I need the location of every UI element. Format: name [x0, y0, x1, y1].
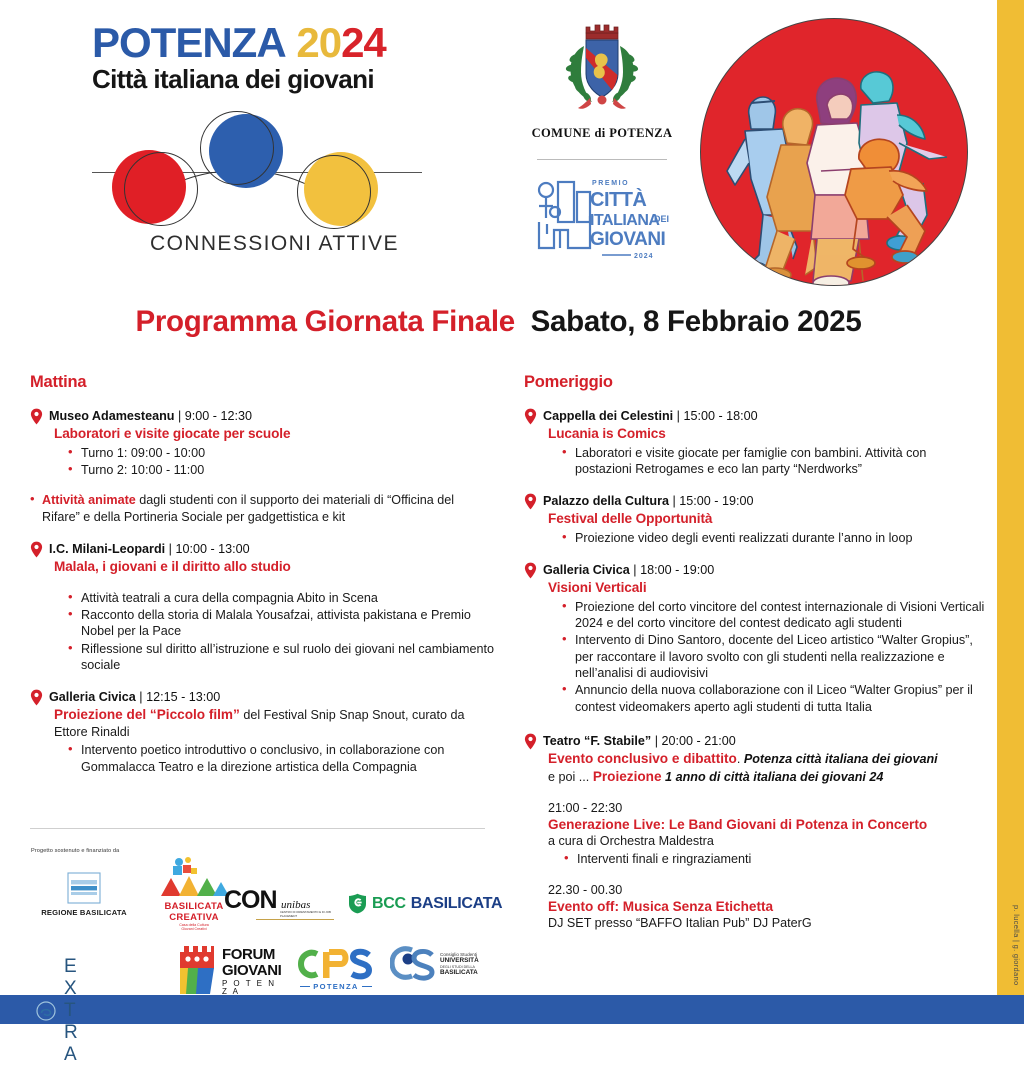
list-item: Interventi finali e ringraziamenti	[564, 851, 986, 867]
bcc-shield-icon	[348, 893, 367, 914]
subblock-subtitle: a cura di Orchestra Maldestra	[524, 833, 986, 849]
cps-potenza-logo: POTENZA	[288, 948, 384, 991]
location-pin-icon	[30, 408, 43, 425]
list-item: Intervento di Dino Santoro, docente del …	[562, 632, 986, 681]
closing-plain: e poi ...	[548, 770, 593, 784]
entry-subtitle: Visioni Verticali	[524, 579, 986, 596]
bcc-basilicata-label: BASILICATA	[411, 895, 503, 913]
list-item: Laboratori e visite giocate per famiglie…	[562, 445, 986, 478]
page-title: Programma Giornata Finale Sabato, 8 Febb…	[0, 305, 997, 339]
premio-line-italiana: ITALIANA	[590, 212, 660, 229]
entry-closing-line-1: Evento conclusivo e dibattito. Potenza c…	[524, 750, 986, 768]
forum-label-3: GIOVANI	[222, 963, 281, 978]
entry-header: Galleria Civica | 12:15 - 13:00	[30, 689, 495, 705]
schedule-column-morning: Mattina Museo Adamesteanu | 9:00 - 12:30…	[30, 372, 495, 788]
footer-note: Progetto sostenuto e finanziato da	[31, 848, 119, 854]
page-title-date: Sabato, 8 Febbraio 2025	[531, 305, 862, 338]
mark-ring-red	[124, 152, 198, 226]
entry-bullet-list: Proiezione del corto vincitore del conte…	[524, 599, 986, 716]
list-item: Riflessione sul diritto all’istruzione e…	[68, 641, 495, 674]
premio-line-giovani: GIOVANI	[590, 229, 666, 250]
schedule-entry: I.C. Milani-Leopardi | 10:00 - 13:00 Mal…	[30, 541, 495, 673]
bottom-edge-bar	[0, 995, 1024, 1024]
closing-italic-2: 1 anno di città italiana dei giovani 24	[662, 770, 884, 784]
group-of-young-people-illustration	[700, 18, 968, 286]
logo-year-part1: 20	[296, 19, 341, 66]
schedule-entry: Galleria Civica | 18:00 - 19:00 Visioni …	[524, 562, 986, 715]
footer-divider	[30, 828, 485, 829]
entry-header: I.C. Milani-Leopardi | 10:00 - 13:00	[30, 541, 495, 557]
forum-giovani-potenza-logo: FORUM GIOVANI P O T E N Z A	[176, 944, 281, 996]
entry-subtitle: Lucania is Comics	[524, 425, 986, 442]
entry-bullet-list: Turno 1: 09:00 - 10:00 Turno 2: 10:00 - …	[30, 445, 495, 479]
list-item: Proiezione video degli eventi realizzati…	[562, 530, 986, 546]
location-pin-icon	[524, 562, 537, 579]
closing-italic: Potenza città italiana dei giovani	[744, 752, 938, 766]
column-heading-afternoon: Pomeriggio	[524, 372, 986, 393]
premio-line-dei: DEI	[654, 214, 669, 224]
potenza-2024-logo: POTENZA 2024 Città italiana dei giovani …	[92, 22, 442, 240]
location-pin-icon	[524, 493, 537, 510]
venue-name: Cappella dei Celestini	[543, 409, 673, 423]
bcc-label: BCC	[372, 895, 406, 913]
con-unibas-label-1: CON	[224, 886, 277, 914]
subblock-title: Evento off: Musica Senza Etichetta	[524, 898, 986, 915]
potenza-coat-of-arms-icon	[556, 22, 648, 120]
column-heading-morning: Mattina	[30, 372, 495, 393]
subblock-time: 21:00 - 22:30	[524, 800, 986, 816]
entry-header: Galleria Civica | 18:00 - 19:00	[524, 562, 986, 578]
venue-time: 15:00 - 19:00	[679, 494, 753, 508]
venue-name: Museo Adamesteanu	[49, 409, 175, 423]
closing-highlight: Evento conclusivo e dibattito	[548, 751, 737, 766]
venue-name: Galleria Civica	[49, 690, 136, 704]
con-unibas-logo: CON unibas CENTRO DI ORIENTAMENTO E DI J…	[224, 888, 334, 920]
venue-time: 12:15 - 13:00	[146, 690, 220, 704]
regione-basilicata-logo: REGIONE BASILICATA	[30, 872, 138, 917]
comune-divider	[537, 159, 667, 160]
closing-highlight-2: Proiezione	[593, 769, 662, 784]
cps-potenza-label: POTENZA	[313, 982, 358, 991]
list-item: Intervento poetico introduttivo o conclu…	[68, 742, 495, 775]
venue-time: 18:00 - 19:00	[640, 563, 714, 577]
mark-caption: CONNESSIONI ATTIVE	[150, 232, 399, 256]
entry-header: Cappella dei Celestini | 15:00 - 18:00	[524, 408, 986, 424]
entry-closing-line-2: e poi ... Proiezione 1 anno di città ita…	[524, 768, 986, 786]
mark-ring-blue	[200, 111, 274, 185]
schedule-entry: Teatro “F. Stabile” | 20:00 - 21:00 Even…	[524, 733, 986, 931]
schedule-entry: Galleria Civica | 12:15 - 13:00 Proiezio…	[30, 689, 495, 775]
comune-di-potenza-logo: COMUNE di POTENZA	[526, 22, 678, 160]
right-edge-bar	[997, 0, 1024, 995]
schedule-entry: Museo Adamesteanu | 9:00 - 12:30 Laborat…	[30, 408, 495, 525]
entry-header: Palazzo della Cultura | 15:00 - 19:00	[524, 493, 986, 509]
closing-sep: .	[737, 752, 744, 766]
entry-header: Museo Adamesteanu | 9:00 - 12:30	[30, 408, 495, 424]
entry-header: Teatro “F. Stabile” | 20:00 - 21:00	[524, 733, 986, 749]
cs-label-universita: UNIVERSITÀ	[440, 957, 479, 965]
entry-subtitle: Proiezione del “Piccolo film” del Festiv…	[30, 706, 495, 740]
extra-label: E X T R A	[64, 956, 83, 1066]
subblock-bullet-list: Interventi finali e ringraziamenti	[524, 851, 986, 867]
forum-castle-icon	[176, 944, 218, 996]
list-item: Turno 1: 09:00 - 10:00	[68, 445, 495, 461]
schedule-column-afternoon: Pomeriggio Cappella dei Celestini | 15:0…	[524, 372, 986, 944]
poster-header: POTENZA 2024 Città italiana dei giovani …	[0, 0, 997, 300]
venue-time: 10:00 - 13:00	[175, 542, 249, 556]
entry-subtitle: Malala, i giovani e il diritto allo stud…	[30, 558, 495, 575]
cps-rule-right	[362, 986, 372, 987]
venue-time: 15:00 - 18:00	[683, 409, 757, 423]
list-item: Attività teatrali a cura della compagnia…	[68, 590, 495, 606]
entry-subtitle: Laboratori e visite giocate per scuole	[30, 425, 495, 442]
logo-subtitle: Città italiana dei giovani	[92, 65, 442, 94]
entry-subtitle-highlight: Proiezione del “Piccolo film”	[54, 707, 240, 722]
schedule-entry: Cappella dei Celestini | 15:00 - 18:00 L…	[524, 408, 986, 477]
venue-time: 20:00 - 21:00	[662, 734, 736, 748]
entry-note: Attività animate dagli studenti con il s…	[30, 492, 495, 525]
extra-swirl-icon	[36, 1001, 56, 1021]
regione-basilicata-label: REGIONE BASILICATA	[30, 908, 138, 917]
logo-title-line: POTENZA 2024	[92, 22, 442, 64]
location-pin-icon	[524, 408, 537, 425]
entry-bullet-list: Laboratori e visite giocate per famiglie…	[524, 445, 986, 478]
venue-name: Teatro “F. Stabile”	[543, 734, 651, 748]
consiglio-studenti-unibas-logo: Consiglio Studenti UNIVERSITÀ DEGLI STUD…	[390, 946, 479, 982]
cs-monogram-icon	[390, 946, 436, 982]
list-item: Racconto della storia di Malala Yousafza…	[68, 607, 495, 640]
list-item: Turno 2: 10:00 - 11:00	[68, 462, 495, 478]
logo-year-part2: 24	[341, 19, 386, 66]
premio-line-year: 2024	[634, 253, 654, 260]
subblock-time: 22.30 - 00.30	[524, 882, 986, 898]
schedule-entry: Palazzo della Cultura | 15:00 - 19:00 Fe…	[524, 493, 986, 546]
entry-bullet-list: Proiezione video degli eventi realizzati…	[524, 530, 986, 546]
cs-label-basilicata: BASILICATA	[440, 969, 479, 977]
entry-note-highlight: Attività animate	[42, 493, 136, 507]
comune-label: COMUNE di POTENZA	[526, 126, 678, 141]
subblock-subtitle: DJ SET presso “BAFFO Italian Pub” DJ Pat…	[524, 915, 986, 931]
list-item: Annuncio della nuova collaborazione con …	[562, 682, 986, 715]
venue-name: Galleria Civica	[543, 563, 630, 577]
entry-subtitle: Festival delle Opportunità	[524, 510, 986, 527]
bcc-basilicata-logo: BCC BASILICATA	[348, 893, 498, 914]
entry-bullet-list: Intervento poetico introduttivo o conclu…	[30, 742, 495, 775]
poster-page: p. lucella | g. giordano POTENZA 2024 Ci…	[0, 0, 1024, 1024]
page-title-red: Programma Giornata Finale	[135, 305, 514, 338]
premio-citta-italiana-giovani-logo: PREMIO CITTÀ ITALIANA DEI GIOVANI 2024	[530, 172, 680, 264]
forum-label-1: FORUM	[222, 947, 281, 962]
location-pin-icon	[30, 689, 43, 706]
list-item: Proiezione del corto vincitore del conte…	[562, 599, 986, 632]
mark-ring-yellow	[297, 155, 371, 229]
venue-name: Palazzo della Cultura	[543, 494, 669, 508]
venue-name: I.C. Milani-Leopardi	[49, 542, 165, 556]
edge-credit-text: p. lucella | g. giordano	[999, 905, 1021, 985]
venue-time: 9:00 - 12:30	[185, 409, 252, 423]
cps-rule-left	[300, 986, 310, 987]
location-pin-icon	[30, 541, 43, 558]
basilicata-creativa-label-4: Giovani Creativi	[148, 927, 240, 931]
logo-word-potenza: POTENZA	[92, 19, 286, 66]
con-unibas-underline	[256, 919, 334, 920]
connessioni-attive-mark: CONNESSIONI ATTIVE	[92, 110, 422, 240]
subblock-title: Generazione Live: Le Band Giovani di Pot…	[524, 816, 986, 833]
extra-logo: E X T R A	[36, 956, 83, 1066]
location-pin-icon	[524, 733, 537, 750]
forum-label-4: P O T E N Z A	[222, 980, 281, 996]
entry-bullet-list: Attività teatrali a cura della compagnia…	[30, 590, 495, 674]
premio-line-citta: CITTÀ	[590, 188, 646, 211]
premio-line-premio: PREMIO	[592, 180, 629, 187]
